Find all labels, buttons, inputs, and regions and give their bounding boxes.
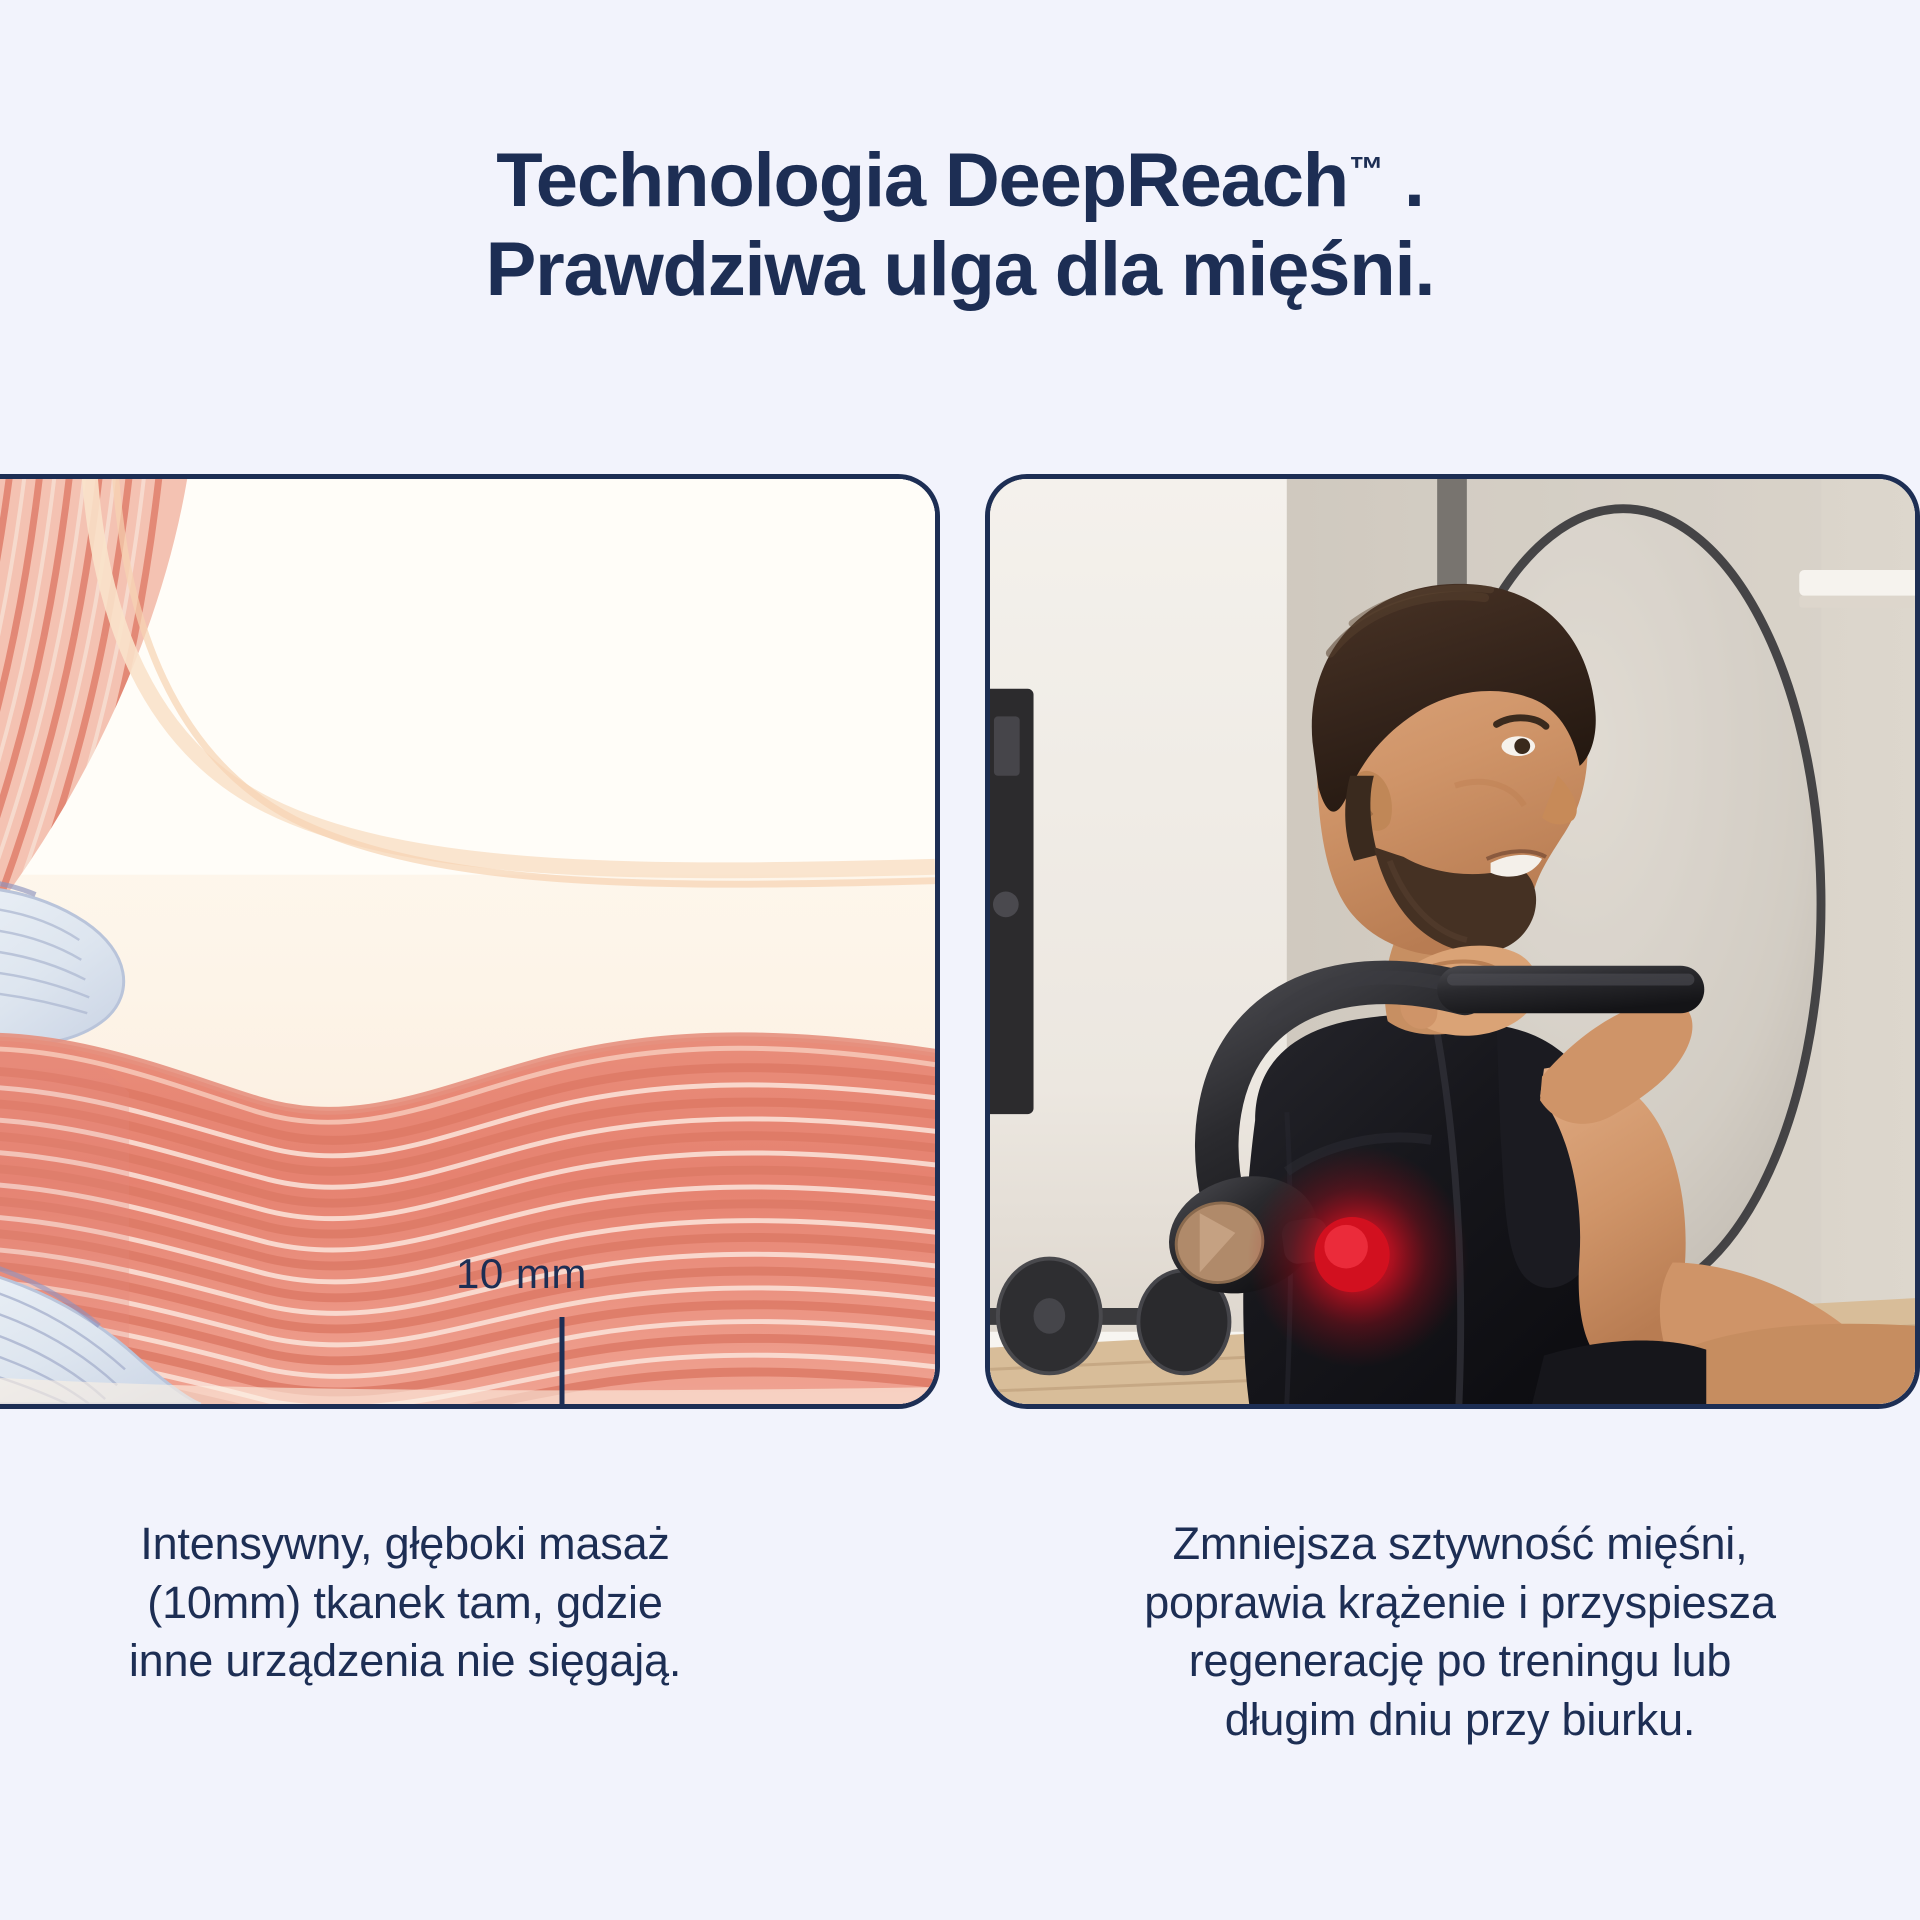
headline-line1-suffix: . xyxy=(1384,138,1424,223)
depth-label: 10 mm xyxy=(456,1250,587,1298)
panels-row: 10 mm xyxy=(0,474,1920,1409)
panel-usage-photo xyxy=(985,474,1920,1409)
caption-left: Intensywny, głęboki masaż (10mm) tkanek … xyxy=(20,1515,790,1691)
panel-muscle-illustration: 10 mm xyxy=(0,474,940,1409)
trademark-symbol: ™ xyxy=(1349,150,1384,189)
headline-line1: Technologia DeepReach xyxy=(496,138,1348,223)
caption-right: Zmniejsza sztywność mięśni, poprawia krą… xyxy=(1040,1515,1880,1749)
usage-photo-image xyxy=(990,479,1915,1404)
page-headline: Technologia DeepReach™ .Prawdziwa ulga d… xyxy=(0,137,1920,315)
depth-arrow-icon xyxy=(546,1317,578,1409)
captions-row: Intensywny, głęboki masaż (10mm) tkanek … xyxy=(0,1470,1920,1800)
headline-line2: Prawdziwa ulga dla mięśni. xyxy=(486,227,1435,312)
